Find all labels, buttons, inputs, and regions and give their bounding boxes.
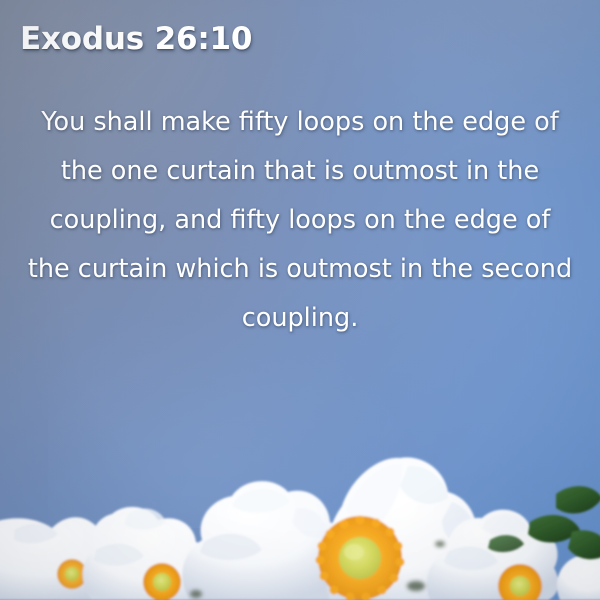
verse-line: You shall make fifty loops on the edge o… <box>24 98 576 147</box>
verse-line: coupling. <box>24 294 576 343</box>
verse-body-text: You shall make fifty loops on the edge o… <box>24 98 576 343</box>
flower-photo-layer <box>0 410 600 600</box>
verse-line: the curtain which is outmost in the seco… <box>24 245 576 294</box>
verse-line: coupling, and fifty loops on the edge of <box>24 196 576 245</box>
verse-reference-title: Exodus 26:10 <box>20 20 252 58</box>
flower-far-right <box>557 552 600 600</box>
verse-line: the one curtain that is outmost in the <box>24 147 576 196</box>
verse-image-canvas: Exodus 26:10 You shall make fifty loops … <box>0 0 600 600</box>
